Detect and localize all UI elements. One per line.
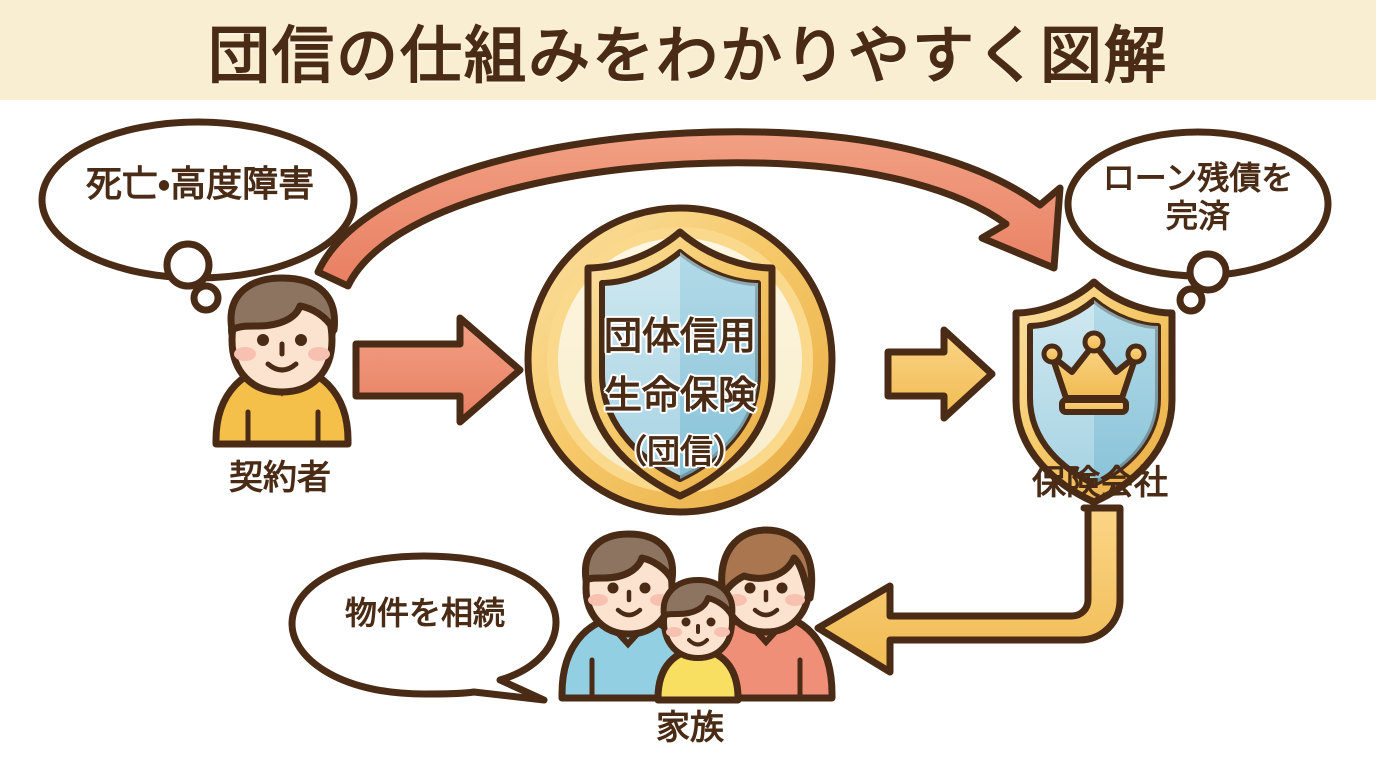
arrow-insurer-to-family-icon xyxy=(818,508,1120,672)
family-caption: 家族 xyxy=(590,700,790,749)
family-icon xyxy=(562,530,832,700)
arrow-emblem-to-insurer-icon xyxy=(888,330,992,418)
arrow-event-arc-icon xyxy=(318,132,1060,286)
diagram-canvas: 団信の仕組みをわかりやすく図解 xyxy=(0,0,1376,768)
person-icon xyxy=(216,278,348,444)
emblem-label-group: 団体信用 生命保険 （団信） xyxy=(570,300,790,487)
loan-repaid-bubble-label: ローン残債を 完済 xyxy=(1068,160,1328,236)
insurer-caption: 保険会社 xyxy=(1000,455,1200,504)
emblem-label-line3: （団信） xyxy=(570,434,790,470)
emblem-label-line2: 生命保険 xyxy=(570,376,790,417)
emblem-label-line1: 団体信用 xyxy=(570,317,790,358)
page-title: 団信の仕組みをわかりやすく図解 xyxy=(0,6,1376,94)
death-disability-bubble-shape xyxy=(42,122,354,310)
inherit-property-bubble-label: 物件を相続 xyxy=(300,595,550,633)
arrow-contractor-to-emblem-icon xyxy=(356,318,520,422)
death-disability-bubble-label: 死亡・高度障害 xyxy=(40,163,360,205)
contractor-caption: 契約者 xyxy=(180,450,380,499)
